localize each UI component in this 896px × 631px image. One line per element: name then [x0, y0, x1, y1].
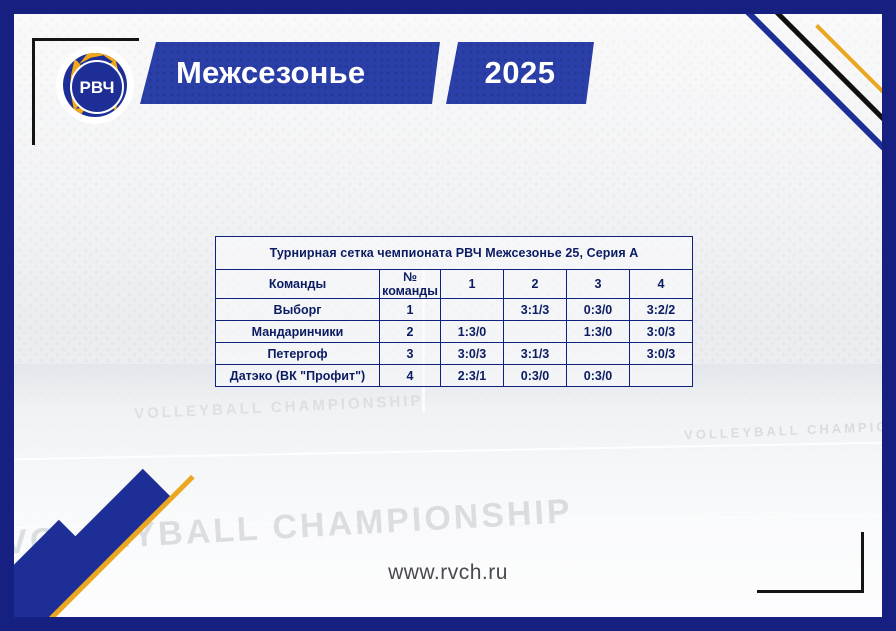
column-header-team-number: № команды: [380, 270, 441, 299]
event-title-label: Межсезонье: [176, 55, 365, 91]
event-year-label: 2025: [485, 55, 556, 91]
column-header-1: 1: [441, 270, 504, 299]
rvch-logo: РВЧ: [58, 48, 132, 122]
team-number: 4: [380, 365, 441, 387]
logo-disc: РВЧ: [63, 53, 127, 117]
score-cell: 0:3/0: [567, 365, 630, 387]
table-row: Датэко (ВК "Профит") 4 2:3/1 0:3/0 0:3/0: [216, 365, 693, 387]
team-number: 1: [380, 299, 441, 321]
table-title: Турнирная сетка чемпионата РВЧ Межсезонь…: [216, 237, 693, 270]
column-header-teams: Команды: [216, 270, 380, 299]
footer-url: www.rvch.ru: [14, 561, 882, 585]
column-header-4: 4: [630, 270, 693, 299]
logo-inner-ring: РВЧ: [70, 60, 124, 114]
table-row: Петергоф 3 3:0/3 3:1/3 3:0/3: [216, 343, 693, 365]
tournament-table: Турнирная сетка чемпионата РВЧ Межсезонь…: [215, 236, 693, 387]
poster-root: VOLLEYBALL CHAMPIONSHIP VOLLEYBALL CHAMP…: [0, 0, 896, 631]
table-title-row: Турнирная сетка чемпионата РВЧ Межсезонь…: [216, 237, 693, 270]
corner-wedges-bottom-left: [14, 442, 214, 617]
column-header-2: 2: [504, 270, 567, 299]
score-cell-self: [630, 365, 693, 387]
score-cell: 1:3/0: [441, 321, 504, 343]
table-header-row: Команды № команды 1 2 3 4: [216, 270, 693, 299]
tournament-table-container: Турнирная сетка чемпионата РВЧ Межсезонь…: [215, 236, 693, 387]
team-number: 3: [380, 343, 441, 365]
table-row: Выборг 1 3:1/3 0:3/0 3:2/2: [216, 299, 693, 321]
logo-label: РВЧ: [80, 79, 115, 96]
team-name: Мандаринчики: [216, 321, 380, 343]
score-cell: 0:3/0: [567, 299, 630, 321]
team-name: Выборг: [216, 299, 380, 321]
score-cell-self: [504, 321, 567, 343]
column-header-team-number-line1: №: [380, 270, 440, 284]
event-title-banner: Межсезонье: [140, 42, 440, 104]
score-cell-self: [567, 343, 630, 365]
team-number: 2: [380, 321, 441, 343]
column-header-3: 3: [567, 270, 630, 299]
score-cell: 3:0/3: [441, 343, 504, 365]
score-cell-self: [441, 299, 504, 321]
score-cell: 3:0/3: [630, 321, 693, 343]
score-cell: 1:3/0: [567, 321, 630, 343]
score-cell: 3:1/3: [504, 299, 567, 321]
score-cell: 3:0/3: [630, 343, 693, 365]
event-year-banner: 2025: [446, 42, 594, 104]
score-cell: 3:1/3: [504, 343, 567, 365]
score-cell: 2:3/1: [441, 365, 504, 387]
table-row: Мандаринчики 2 1:3/0 1:3/0 3:0/3: [216, 321, 693, 343]
poster-header: РВЧ Межсезонье 2025: [14, 38, 882, 124]
team-name: Датэко (ВК "Профит"): [216, 365, 380, 387]
poster-canvas: VOLLEYBALL CHAMPIONSHIP VOLLEYBALL CHAMP…: [14, 14, 882, 617]
team-name: Петергоф: [216, 343, 380, 365]
score-cell: 0:3/0: [504, 365, 567, 387]
score-cell: 3:2/2: [630, 299, 693, 321]
column-header-team-number-line2: команды: [380, 284, 440, 298]
